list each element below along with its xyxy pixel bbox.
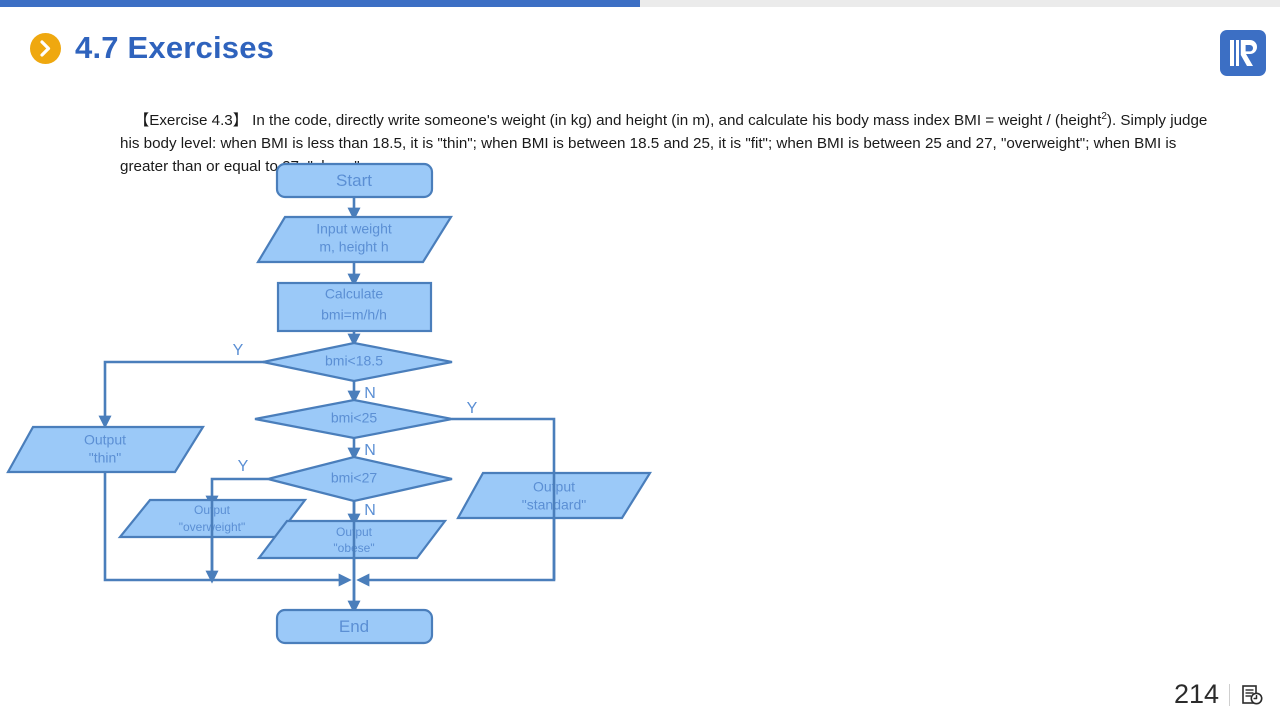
bookmark-r-logo — [1220, 30, 1266, 76]
reading-progress-bar[interactable] — [0, 0, 1280, 7]
flow-node-start-label: Start — [336, 171, 372, 190]
exercise-text-part1: In the code, directly write someone's we… — [248, 112, 1101, 129]
section-header: 4.7 Exercises — [30, 30, 274, 66]
page-footer: 214 — [1174, 679, 1264, 710]
exercise-label: 【Exercise 4.3】 — [134, 112, 248, 129]
document-history-icon[interactable] — [1240, 683, 1264, 707]
branch-label-d2-yes: Y — [467, 400, 478, 417]
flow-node-calc-line2: bmi=m/h/h — [321, 307, 387, 323]
flow-node-output-thin[interactable]: Output "thin" — [8, 427, 203, 472]
flow-node-calc-line1: Calculate — [325, 286, 384, 302]
flow-node-thin-line2: "thin" — [89, 450, 122, 466]
flow-node-decision3-label: bmi<27 — [331, 470, 378, 486]
flow-node-decision-bmi-27[interactable]: bmi<27 — [268, 457, 452, 501]
branch-label-d1-no: N — [364, 385, 376, 402]
flow-node-decision2-label: bmi<25 — [331, 410, 378, 426]
reading-progress-fill — [0, 0, 640, 7]
flow-node-input-line2: m, height h — [319, 239, 388, 255]
flow-node-output-obese[interactable]: Output "obese" — [259, 521, 445, 558]
flow-node-start[interactable]: Start — [277, 164, 432, 197]
bmi-flowchart: Start Input weight m, height h Calculate… — [0, 155, 700, 655]
flow-node-input[interactable]: Input weight m, height h — [258, 217, 451, 262]
page-number: 214 — [1174, 679, 1219, 710]
flow-node-decision-bmi-18-5[interactable]: bmi<18.5 — [263, 343, 452, 381]
footer-divider — [1229, 684, 1230, 706]
flow-node-input-line1: Input weight — [316, 221, 392, 237]
chevron-right-circle-icon — [30, 33, 61, 64]
branch-label-d1-yes: Y — [233, 342, 244, 359]
flow-node-end-label: End — [339, 617, 369, 636]
connector-d1-yes-to-thin — [105, 362, 264, 425]
branch-label-d3-no: N — [364, 502, 376, 519]
flow-node-decision1-label: bmi<18.5 — [325, 353, 383, 369]
page-title: 4.7 Exercises — [75, 30, 274, 66]
branch-label-d2-no: N — [364, 442, 376, 459]
flow-node-end[interactable]: End — [277, 610, 432, 643]
flow-node-decision-bmi-25[interactable]: bmi<25 — [255, 400, 452, 438]
flow-node-thin-line1: Output — [84, 432, 126, 448]
branch-label-d3-yes: Y — [238, 458, 249, 475]
flow-node-calculate[interactable]: Calculate bmi=m/h/h — [278, 283, 431, 331]
